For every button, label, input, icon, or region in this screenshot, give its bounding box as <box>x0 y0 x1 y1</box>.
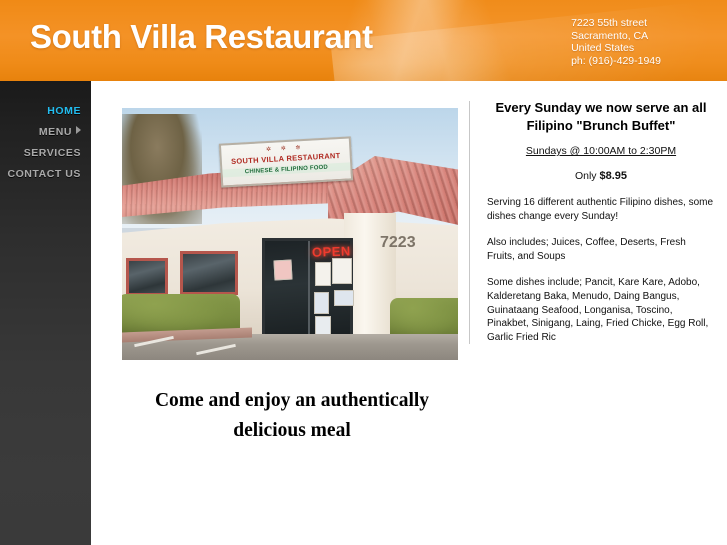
storefront-photo: ✲ ✲ ✲ SOUTH VILLA RESTAURANT CHINESE & F… <box>122 108 458 360</box>
site-header: South Villa Restaurant 7223 55th street … <box>0 0 727 81</box>
sidebar-item-services-label: SERVICES <box>24 147 81 159</box>
photo-door-flyer <box>315 316 331 336</box>
promo-paragraph-dishes-count: Serving 16 different authentic Filipino … <box>487 196 715 223</box>
chevron-right-icon <box>76 126 81 134</box>
promo-paragraph-dish-list: Some dishes include; Pancit, Kare Kare, … <box>487 276 715 344</box>
sidebar-item-home-label: HOME <box>47 105 81 117</box>
storefront-photo-image: ✲ ✲ ✲ SOUTH VILLA RESTAURANT CHINESE & F… <box>122 108 458 360</box>
promo-price-value: $8.95 <box>599 170 627 182</box>
sidebar-item-contact-us[interactable]: CONTACT US <box>0 164 91 185</box>
photo-door-flyer <box>332 258 352 284</box>
header-address-block: 7223 55th street Sacramento, CA United S… <box>571 17 661 67</box>
photo-marquee-sign: ✲ ✲ ✲ SOUTH VILLA RESTAURANT CHINESE & F… <box>219 136 353 187</box>
promo-price-prefix: Only <box>575 170 600 182</box>
photo-door-flyer <box>334 290 354 306</box>
sidebar: HOME MENU SERVICES CONTACT US <box>0 81 91 545</box>
sidebar-item-contact-us-label: CONTACT US <box>7 168 81 180</box>
address-line-country: United States <box>571 42 661 55</box>
column-divider <box>469 101 470 344</box>
photo-window-left <box>126 258 168 296</box>
photo-street-number: 7223 <box>380 234 416 251</box>
sidebar-item-menu-label: MENU <box>39 126 72 138</box>
address-line-street: 7223 55th street <box>571 17 661 30</box>
sidebar-item-home[interactable]: HOME <box>0 101 91 122</box>
sidebar-item-services[interactable]: SERVICES <box>0 143 91 164</box>
photo-door-flyer <box>314 292 329 314</box>
photo-door-mullion <box>308 241 310 349</box>
page-content: ✲ ✲ ✲ SOUTH VILLA RESTAURANT CHINESE & F… <box>91 81 727 545</box>
promo-paragraph-includes: Also includes; Juices, Coffee, Deserts, … <box>487 236 715 263</box>
main-navigation: HOME MENU SERVICES CONTACT US <box>0 101 91 185</box>
site-title: South Villa Restaurant <box>30 18 373 56</box>
promo-heading: Every Sunday we now serve an all Filipin… <box>487 99 715 135</box>
address-line-city: Sacramento, CA <box>571 30 661 43</box>
page-tagline: Come and enjoy an authentically deliciou… <box>122 386 462 446</box>
sidebar-item-menu[interactable]: MENU <box>0 122 91 143</box>
promo-column: Every Sunday we now serve an all Filipin… <box>487 99 715 344</box>
promo-price: Only $8.95 <box>487 170 715 182</box>
promo-hours: Sundays @ 10:00AM to 2:30PM <box>487 145 715 157</box>
photo-door-flyer <box>273 260 292 281</box>
photo-window-center <box>180 251 238 295</box>
address-line-phone: ph: (916)-429-1949 <box>571 55 661 68</box>
photo-door-flyer <box>315 262 331 286</box>
